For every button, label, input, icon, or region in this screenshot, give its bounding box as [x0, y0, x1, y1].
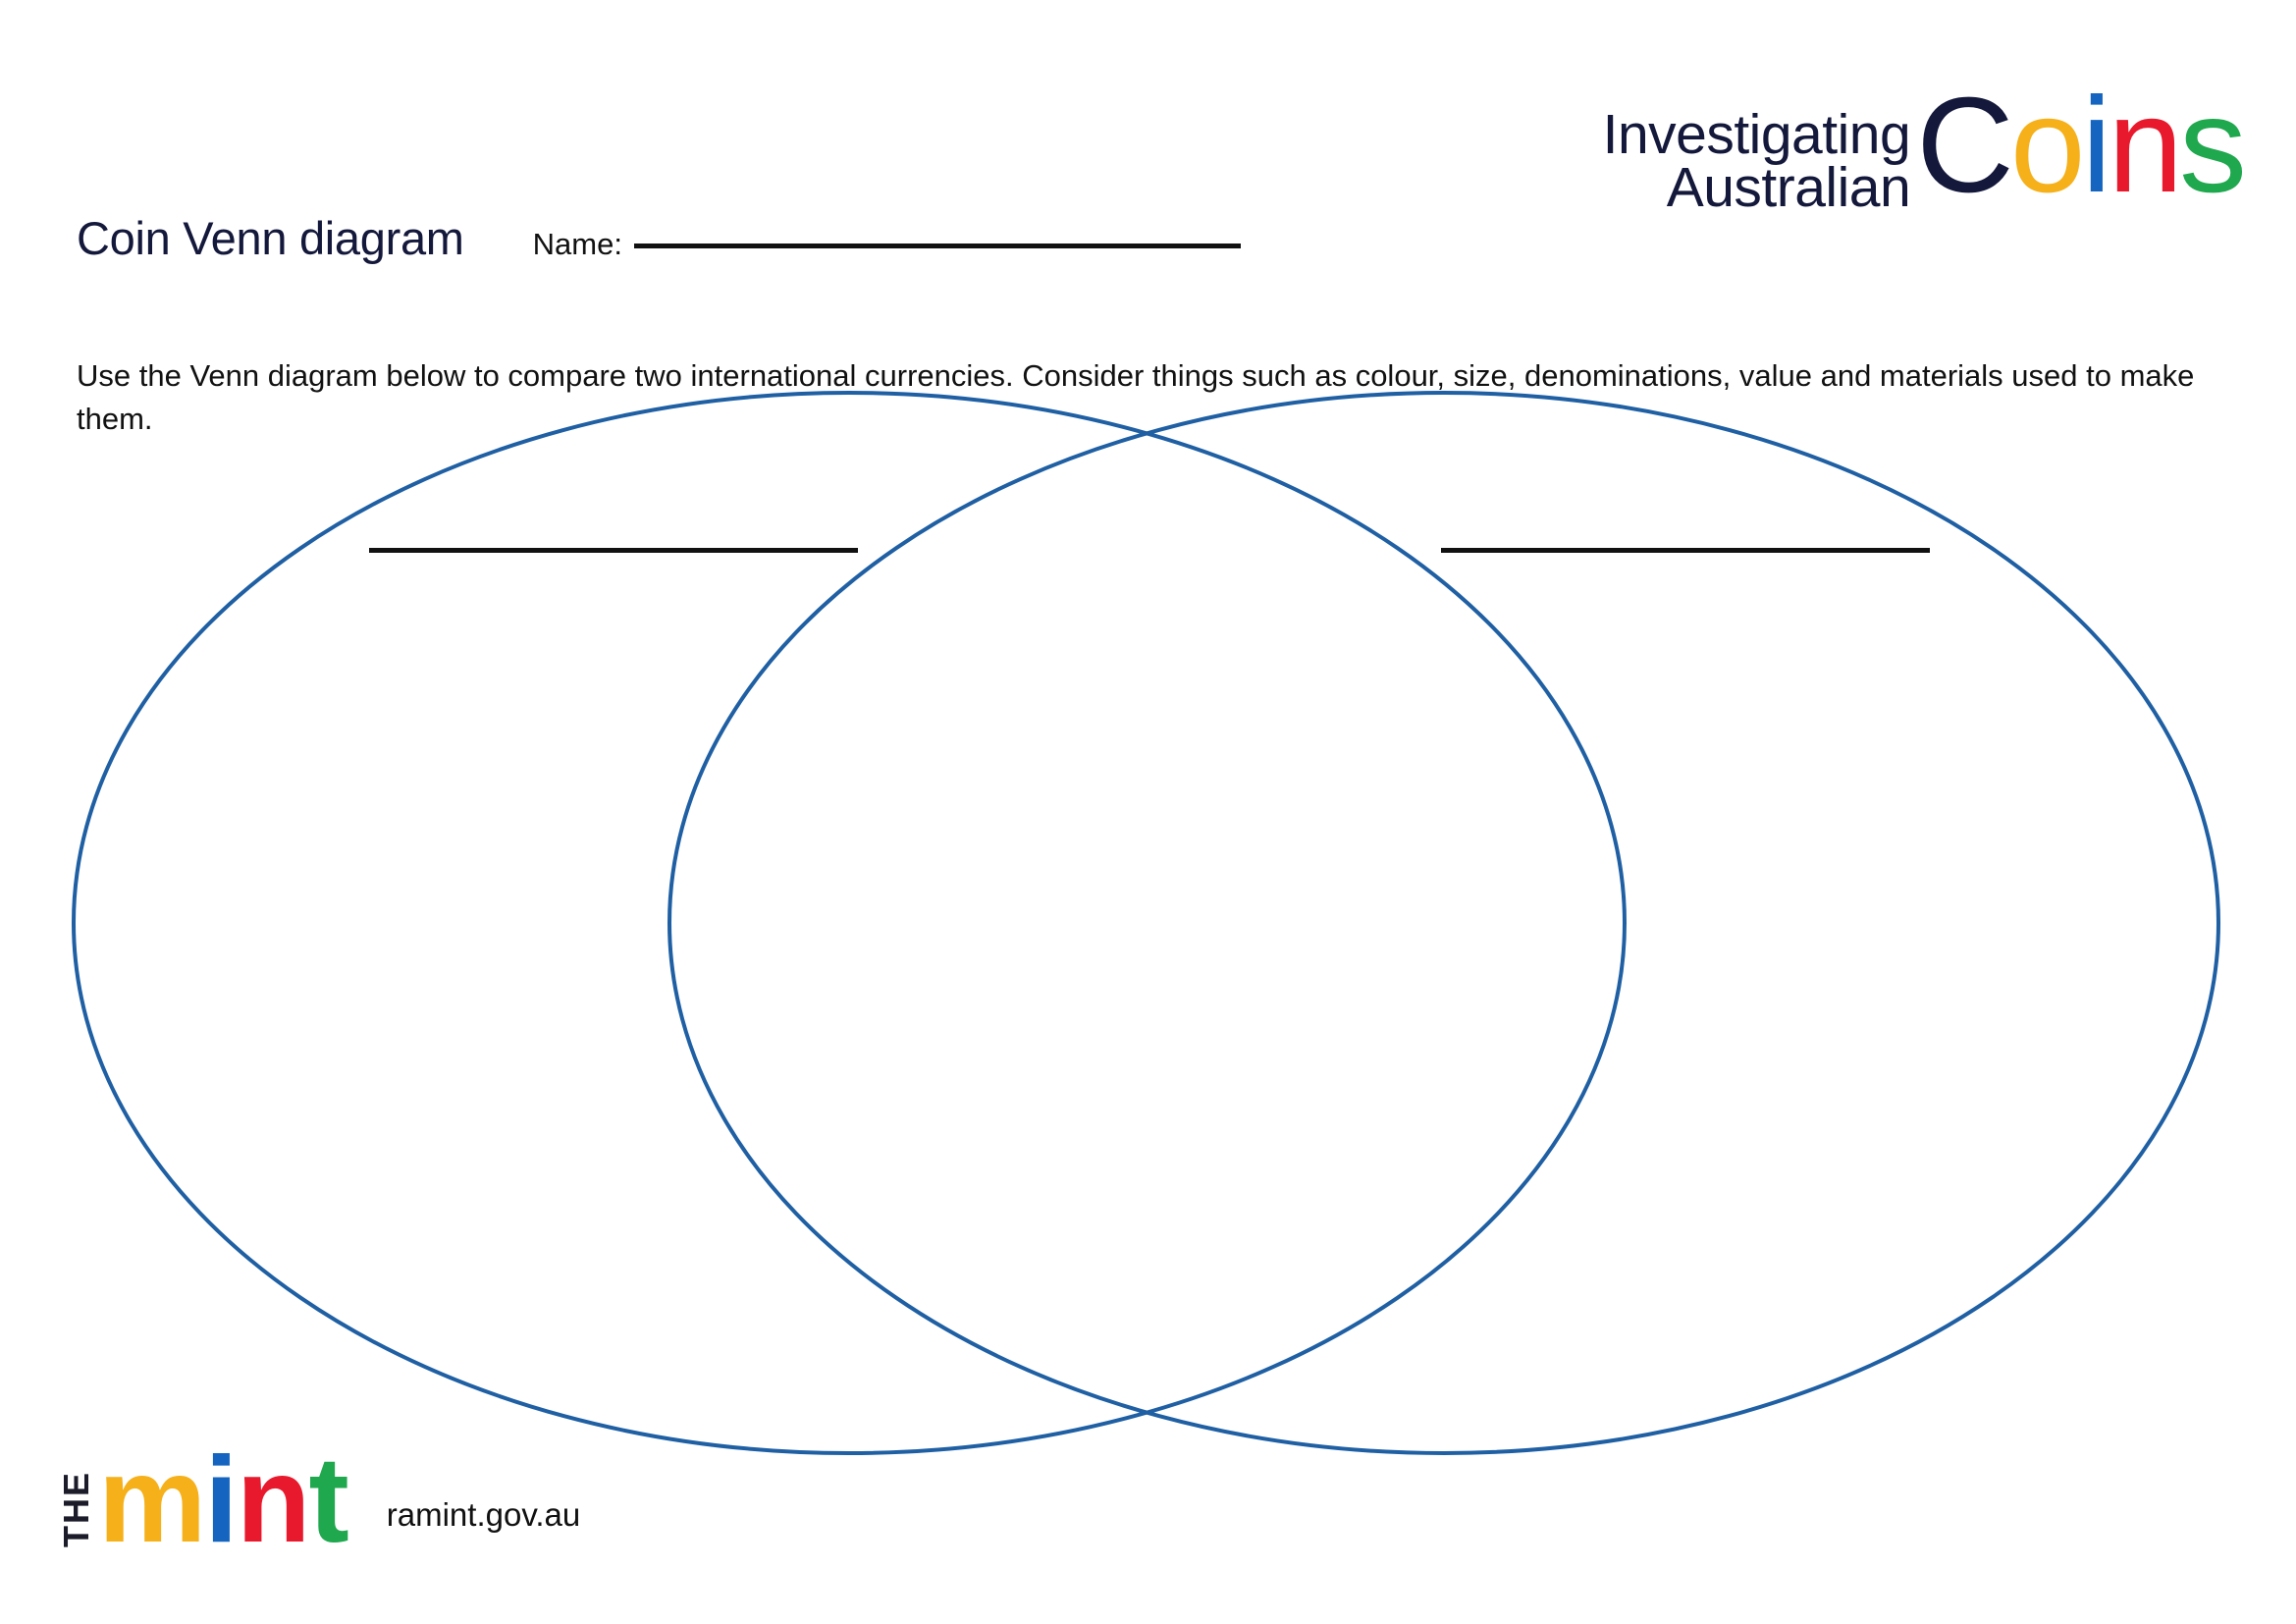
name-field-group: Name:	[533, 227, 1241, 262]
brand-line-australian: Australian	[1667, 162, 1910, 215]
brand-coins-letter-c-0: C	[1916, 70, 2010, 221]
mint-letter-t-3: t	[308, 1433, 347, 1568]
mint-the-text: THE	[59, 1471, 94, 1547]
title-row: Coin Venn diagram Name:	[77, 211, 1241, 265]
venn-left-label-line[interactable]	[369, 548, 858, 553]
brand-coins-letter-i-2: i	[2082, 70, 2109, 221]
name-input-line[interactable]	[634, 244, 1241, 248]
investigating-australian-coins-logo: Investigating Australian Coins	[1428, 93, 2243, 236]
name-label: Name:	[533, 227, 622, 262]
mint-letter-n-2: n	[237, 1433, 309, 1568]
mint-wordmark: mint	[98, 1451, 347, 1551]
instruction-text: Use the Venn diagram below to compare tw…	[77, 354, 2216, 441]
brand-wordmark: Investigating Australian	[1603, 93, 1911, 214]
page-title: Coin Venn diagram	[77, 211, 464, 265]
brand-coins-letter-s-4: s	[2179, 70, 2243, 221]
worksheet-page: Investigating Australian Coins Coin Venn…	[0, 0, 2296, 1624]
venn-right-label-line[interactable]	[1441, 548, 1930, 553]
mint-letter-i-1: i	[204, 1433, 236, 1568]
site-url-text: ramint.gov.au	[387, 1496, 580, 1534]
brand-coins-letter-o-1: o	[2010, 70, 2082, 221]
brand-coins-letter-n-3: n	[2108, 70, 2179, 221]
mint-letter-m-0: m	[98, 1433, 204, 1568]
brand-coins-wordmark: Coins	[1916, 87, 2243, 204]
footer: THE mint ramint.gov.au	[59, 1451, 580, 1551]
the-mint-logo: THE mint	[59, 1451, 347, 1551]
brand-line-investigating: Investigating	[1603, 109, 1911, 162]
